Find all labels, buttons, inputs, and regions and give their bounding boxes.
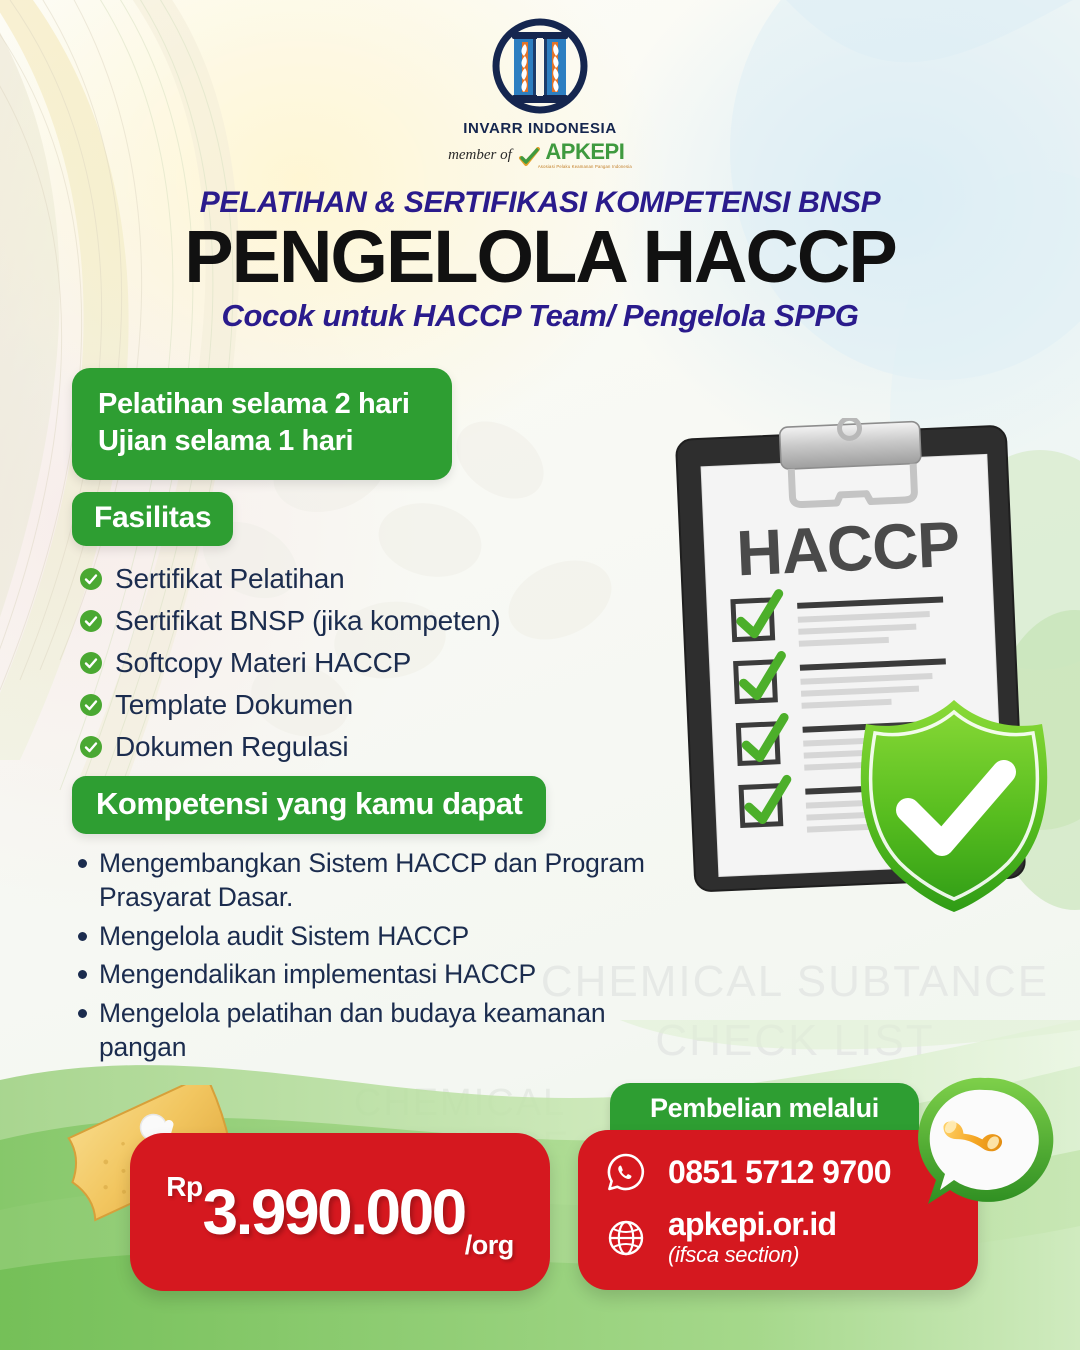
duration-badge: Pelatihan selama 2 hari Ujian selama 1 h… [72, 368, 452, 480]
facilities-heading-badge: Fasilitas [72, 492, 233, 546]
brand-logo: INVARR INDONESIA member of APKEPI Asosia… [0, 16, 1080, 169]
price-currency: Rp [166, 1171, 202, 1203]
clipboard-icon: HACCP [648, 418, 1078, 918]
contact-website-note: (ifsca section) [668, 1242, 836, 1268]
list-item-label: Mengelola pelatihan dan budaya keamanan … [99, 996, 658, 1065]
list-item-label: Template Dokumen [115, 689, 353, 721]
apkepi-name: APKEPI [545, 139, 624, 164]
check-circle-icon [80, 694, 102, 716]
price-unit: /org [465, 1230, 514, 1261]
bullet-icon [78, 970, 87, 979]
list-item: Mengelola audit Sistem HACCP [78, 919, 658, 953]
price-card: Rp 3.990.000 /org [130, 1133, 550, 1291]
list-item-label: Dokumen Regulasi [115, 731, 348, 763]
bullet-icon [78, 932, 87, 941]
apkepi-logo: APKEPI Asosiasi Pelaku Keamanan Pangan I… [518, 142, 632, 169]
price-amount: 3.990.000 [203, 1175, 465, 1249]
list-item-label: Mengembangkan Sistem HACCP dan Program P… [99, 846, 658, 915]
contact-phone: 0851 5712 9700 [668, 1154, 891, 1191]
facilities-list: Sertifikat Pelatihan Sertifikat BNSP (ji… [80, 558, 660, 768]
competency-list: Mengembangkan Sistem HACCP dan Program P… [78, 846, 658, 1069]
apkepi-tagline: Asosiasi Pelaku Keamanan Pangan Indonesi… [538, 164, 632, 169]
member-of-label: member of [448, 147, 512, 164]
list-item: Mengelola pelatihan dan budaya keamanan … [78, 996, 658, 1065]
list-item: Sertifikat Pelatihan [80, 558, 660, 600]
duration-line-2: Ujian selama 1 hari [98, 423, 426, 460]
list-item-label: Mengelola audit Sistem HACCP [99, 919, 658, 953]
check-circle-icon [80, 610, 102, 632]
whatsapp-icon [606, 1152, 646, 1192]
globe-icon [606, 1218, 646, 1258]
bullet-icon [78, 1009, 87, 1018]
poster-root: CHEMICAL SUBTANCE CHECK LIST CHEMICAL SU… [0, 0, 1080, 1350]
list-item-label: Softcopy Materi HACCP [115, 647, 411, 679]
competency-heading-badge: Kompetensi yang kamu dapat [72, 776, 546, 834]
list-item: Template Dokumen [80, 684, 660, 726]
invarr-pillar-icon [481, 16, 599, 122]
duration-line-1: Pelatihan selama 2 hari [98, 386, 426, 423]
contact-website: apkepi.or.id [668, 1208, 836, 1240]
list-item-label: Sertifikat BNSP (jika kompeten) [115, 605, 500, 637]
check-icon [518, 147, 540, 169]
member-row: member of APKEPI Asosiasi Pelaku Keamana… [0, 142, 1080, 169]
facilities-heading: Fasilitas [94, 501, 211, 535]
list-item: Sertifikat BNSP (jika kompeten) [80, 600, 660, 642]
check-circle-icon [80, 568, 102, 590]
check-circle-icon [80, 652, 102, 674]
contact-heading-badge: Pembelian melalui [610, 1083, 919, 1136]
page-title: PENGELOLA HACCP [0, 218, 1080, 296]
list-item: Softcopy Materi HACCP [80, 642, 660, 684]
list-item-label: Mengendalikan implementasi HACCP [99, 957, 658, 991]
page-subtitle: Cocok untuk HACCP Team/ Pengelola SPPG [0, 298, 1080, 334]
competency-heading: Kompetensi yang kamu dapat [96, 786, 522, 822]
check-circle-icon [80, 736, 102, 758]
list-item: Mengendalikan implementasi HACCP [78, 957, 658, 991]
list-item: Dokumen Regulasi [80, 726, 660, 768]
brand-name: INVARR INDONESIA [0, 120, 1080, 137]
phone-bubble-icon [910, 1068, 1060, 1218]
svg-text:HACCP: HACCP [735, 508, 960, 590]
contact-heading: Pembelian melalui [650, 1093, 879, 1124]
list-item: Mengembangkan Sistem HACCP dan Program P… [78, 846, 658, 915]
bullet-icon [78, 859, 87, 868]
list-item-label: Sertifikat Pelatihan [115, 563, 344, 595]
